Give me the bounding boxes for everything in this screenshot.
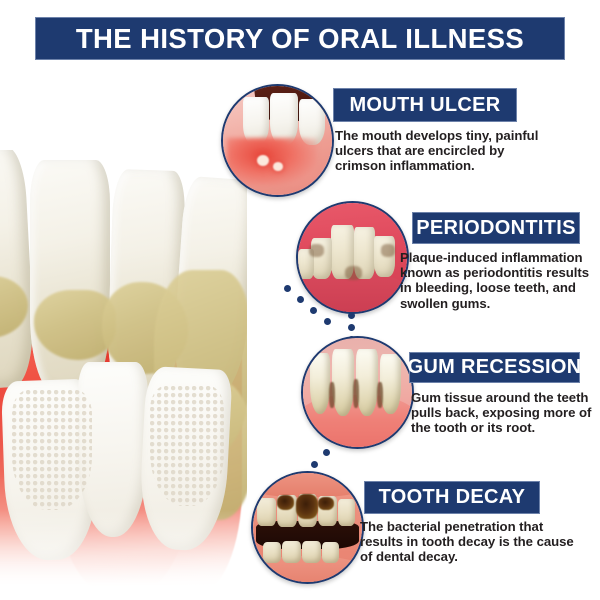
exposed-tooth [380, 354, 401, 414]
page-title-banner: THE HISTORY OF ORAL ILLNESS [35, 17, 565, 60]
tooth-crown [30, 160, 110, 395]
section-heading-mouth-ulcer: MOUTH ULCER [333, 88, 517, 122]
heading-label: TOOTH DECAY [379, 486, 526, 509]
exposed-tooth [310, 353, 331, 414]
connector-dot [323, 449, 330, 456]
upper-tooth [338, 499, 355, 526]
diseased-teeth-illustration [0, 150, 247, 600]
lower-tooth [263, 542, 282, 564]
lower-tooth [302, 541, 321, 564]
photo-gum-recession[interactable] [301, 336, 414, 449]
bone-texture [12, 390, 92, 510]
ulcer-lesion [257, 155, 269, 166]
interdental-gap [329, 382, 334, 408]
plaque-stain [381, 244, 395, 257]
tooth [270, 93, 298, 145]
heading-label: PERIODONTITIS [416, 217, 575, 240]
section-body-periodontitis: Plaque-induced inflammation known as per… [400, 250, 600, 311]
caries-lesion [318, 497, 333, 510]
photo-mouth-ulcer[interactable] [221, 84, 334, 197]
section-body-mouth-ulcer: The mouth develops tiny, painful ulcers … [335, 128, 550, 174]
exposed-tooth [332, 349, 354, 417]
bone-texture [150, 386, 224, 506]
interdental-gap [377, 382, 382, 408]
photo-inner [303, 338, 412, 447]
connector-dot [311, 461, 318, 468]
exposed-tooth [356, 349, 378, 417]
connector-dot [284, 285, 291, 292]
plaque-stain [309, 244, 324, 257]
connector-dot [348, 312, 355, 319]
photo-inner [253, 473, 362, 582]
heading-label: MOUTH ULCER [349, 94, 500, 117]
section-body-tooth-decay: The bacterial penetration that results i… [360, 519, 575, 565]
interdental-gap [353, 379, 358, 407]
upper-tooth [257, 498, 276, 526]
lower-tooth [282, 541, 301, 564]
caries-lesion [296, 494, 319, 519]
section-body-gum-recession: Gum tissue around the teeth pulls back, … [411, 390, 596, 436]
lower-tooth [322, 542, 339, 564]
page-title: THE HISTORY OF ORAL ILLNESS [76, 23, 524, 55]
photo-periodontitis[interactable] [296, 201, 409, 314]
ulcer-lesion [273, 162, 283, 171]
section-heading-tooth-decay: TOOTH DECAY [364, 481, 540, 514]
connector-dot [348, 324, 355, 331]
photo-tooth-decay[interactable] [251, 471, 364, 584]
connector-dot [324, 318, 331, 325]
illustration-fade [0, 510, 247, 600]
heading-label: GUM RECESSION [408, 356, 582, 379]
photo-inner [223, 86, 332, 195]
section-heading-periodontitis: PERIODONTITIS [412, 212, 580, 244]
caries-lesion [277, 495, 294, 510]
plaque-stain [345, 266, 362, 280]
crimson-inflammation [227, 138, 316, 186]
section-heading-gum-recession: GUM RECESSION [409, 352, 580, 383]
photo-inner [298, 203, 407, 312]
